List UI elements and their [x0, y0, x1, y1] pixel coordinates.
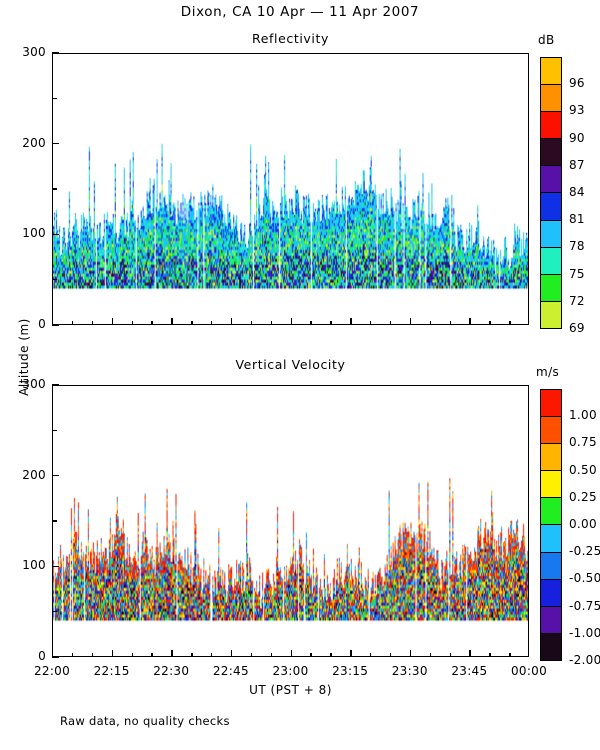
- y-tick-label: 300: [8, 45, 46, 59]
- page-title: Dixon, CA 10 Apr — 11 Apr 2007: [0, 4, 600, 20]
- y-tick-major: [52, 143, 59, 144]
- x-tick-minor: [191, 321, 192, 326]
- colorbar-swatch: [541, 139, 561, 166]
- x-tick-minor: [211, 321, 212, 326]
- x-tick-major: [350, 650, 351, 657]
- colorbar-tick-label: 93: [569, 103, 585, 117]
- x-tick-minor: [151, 653, 152, 658]
- x-tick-minor: [132, 653, 133, 658]
- x-tick-minor: [450, 653, 451, 658]
- x-tick-major: [410, 318, 411, 325]
- colorbar-swatch: [541, 444, 561, 471]
- footer-note: Raw data, no quality checks: [60, 714, 230, 728]
- colorbar-title-ms: m/s: [536, 365, 559, 379]
- colorbar-swatch: [541, 553, 561, 580]
- x-tick-major: [231, 318, 232, 325]
- colorbar-swatch: [541, 525, 561, 552]
- x-tick-minor: [370, 653, 371, 658]
- x-tick-major: [171, 650, 172, 657]
- x-tick-minor: [390, 653, 391, 658]
- x-tick-major: [52, 650, 53, 657]
- colorbar-tick-label: 96: [569, 76, 585, 90]
- y-tick-label: 0: [8, 649, 46, 663]
- y-tick-label: 0: [8, 317, 46, 331]
- y-tick-label: 100: [8, 558, 46, 572]
- colorbar-swatch: [541, 221, 561, 248]
- x-tick-label: 22:30: [141, 664, 201, 678]
- x-tick-minor: [390, 321, 391, 326]
- colorbar-swatch: [541, 634, 561, 660]
- colorbar-tick-label: -0.25: [569, 544, 600, 558]
- colorbar-tick-label: 84: [569, 185, 585, 199]
- x-tick-minor: [450, 321, 451, 326]
- x-tick-minor: [271, 653, 272, 658]
- colorbar-swatch: [541, 498, 561, 525]
- colorbar-tick-label: 87: [569, 158, 585, 172]
- x-tick-minor: [92, 321, 93, 326]
- x-tick-label: 23:00: [261, 664, 321, 678]
- x-tick-minor: [310, 653, 311, 658]
- x-tick-minor: [271, 321, 272, 326]
- colorbar-swatch: [541, 275, 561, 302]
- x-tick-label: 23:45: [439, 664, 499, 678]
- y-tick-minor: [52, 279, 57, 280]
- y-tick-minor: [52, 430, 57, 431]
- x-tick-major: [112, 650, 113, 657]
- velocity-data-canvas: [53, 386, 528, 656]
- colorbar-tick-label: 0.00: [569, 517, 597, 531]
- x-tick-minor: [211, 653, 212, 658]
- x-tick-minor: [132, 321, 133, 326]
- colorbar-ms: [540, 389, 562, 661]
- colorbar-tick-label: -0.50: [569, 571, 600, 585]
- reflectivity-data-canvas: [53, 54, 528, 324]
- x-tick-major: [528, 318, 529, 325]
- x-tick-major: [291, 650, 292, 657]
- y-tick-major: [52, 566, 59, 567]
- x-tick-major: [231, 650, 232, 657]
- x-tick-minor: [509, 653, 510, 658]
- colorbar-tick-label: 0.50: [569, 463, 597, 477]
- y-tick-minor: [52, 611, 57, 612]
- colorbar-tick-label: 69: [569, 321, 585, 335]
- y-tick-minor: [52, 520, 57, 521]
- x-tick-label: 00:00: [499, 664, 559, 678]
- colorbar-tick-label: 81: [569, 212, 585, 226]
- x-tick-major: [469, 318, 470, 325]
- colorbar-tick-label: 78: [569, 239, 585, 253]
- x-tick-minor: [430, 321, 431, 326]
- x-tick-label: 22:45: [201, 664, 261, 678]
- colorbar-tick-label: 0.75: [569, 435, 597, 449]
- y-tick-major: [52, 475, 59, 476]
- x-tick-minor: [430, 653, 431, 658]
- x-tick-label: 22:15: [82, 664, 142, 678]
- colorbar-tick-label: -0.75: [569, 599, 600, 613]
- colorbar-swatch: [541, 248, 561, 275]
- y-tick-major: [52, 52, 59, 53]
- colorbar-tick-label: 75: [569, 267, 585, 281]
- colorbar-tick-label: -1.00: [569, 626, 600, 640]
- x-tick-minor: [330, 321, 331, 326]
- x-tick-minor: [489, 653, 490, 658]
- colorbar-swatch: [541, 193, 561, 220]
- x-tick-major: [112, 318, 113, 325]
- x-tick-major: [410, 650, 411, 657]
- colorbar-db: [540, 57, 562, 329]
- x-tick-minor: [92, 653, 93, 658]
- colorbar-swatch: [541, 58, 561, 85]
- x-tick-label: 23:30: [380, 664, 440, 678]
- colorbar-swatch: [541, 580, 561, 607]
- x-tick-major: [469, 650, 470, 657]
- x-tick-major: [291, 318, 292, 325]
- x-tick-label: 23:15: [320, 664, 380, 678]
- colorbar-swatch: [541, 390, 561, 417]
- x-tick-minor: [509, 321, 510, 326]
- panel-title-reflectivity: Reflectivity: [52, 31, 529, 46]
- colorbar-swatch: [541, 166, 561, 193]
- x-tick-minor: [191, 653, 192, 658]
- y-tick-minor: [52, 98, 57, 99]
- colorbar-swatch: [541, 471, 561, 498]
- y-tick-label: 200: [8, 468, 46, 482]
- x-tick-minor: [72, 653, 73, 658]
- colorbar-title-db: dB: [538, 33, 555, 47]
- colorbar-tick-label: 1.00: [569, 408, 597, 422]
- x-tick-label: 22:00: [22, 664, 82, 678]
- x-tick-minor: [251, 653, 252, 658]
- y-tick-label: 100: [8, 226, 46, 240]
- colorbar-swatch: [541, 607, 561, 634]
- x-tick-minor: [151, 321, 152, 326]
- x-tick-minor: [251, 321, 252, 326]
- y-tick-major: [52, 384, 59, 385]
- y-tick-major: [52, 234, 59, 235]
- y-tick-label: 300: [8, 377, 46, 391]
- y-axis-label: Altitude (m): [17, 297, 31, 417]
- x-tick-minor: [370, 321, 371, 326]
- plot-area-velocity: [52, 385, 529, 657]
- x-tick-major: [171, 318, 172, 325]
- x-tick-minor: [72, 321, 73, 326]
- colorbar-swatch: [541, 112, 561, 139]
- y-tick-minor: [52, 188, 57, 189]
- x-tick-major: [528, 650, 529, 657]
- x-tick-minor: [489, 321, 490, 326]
- x-tick-minor: [330, 653, 331, 658]
- x-tick-minor: [310, 321, 311, 326]
- colorbar-tick-label: 90: [569, 131, 585, 145]
- panel-title-velocity: Vertical Velocity: [52, 357, 529, 372]
- x-axis-label: UT (PST + 8): [52, 683, 529, 697]
- x-tick-major: [52, 318, 53, 325]
- colorbar-swatch: [541, 85, 561, 112]
- x-tick-major: [350, 318, 351, 325]
- colorbar-swatch: [541, 302, 561, 328]
- plot-area-reflectivity: [52, 53, 529, 325]
- y-tick-label: 200: [8, 136, 46, 150]
- colorbar-tick-label: 72: [569, 294, 585, 308]
- colorbar-tick-label: -2.00: [569, 653, 600, 667]
- colorbar-tick-label: 0.25: [569, 490, 597, 504]
- colorbar-swatch: [541, 417, 561, 444]
- radar-time-height-figure: Dixon, CA 10 Apr — 11 Apr 2007 Reflectiv…: [0, 0, 600, 750]
